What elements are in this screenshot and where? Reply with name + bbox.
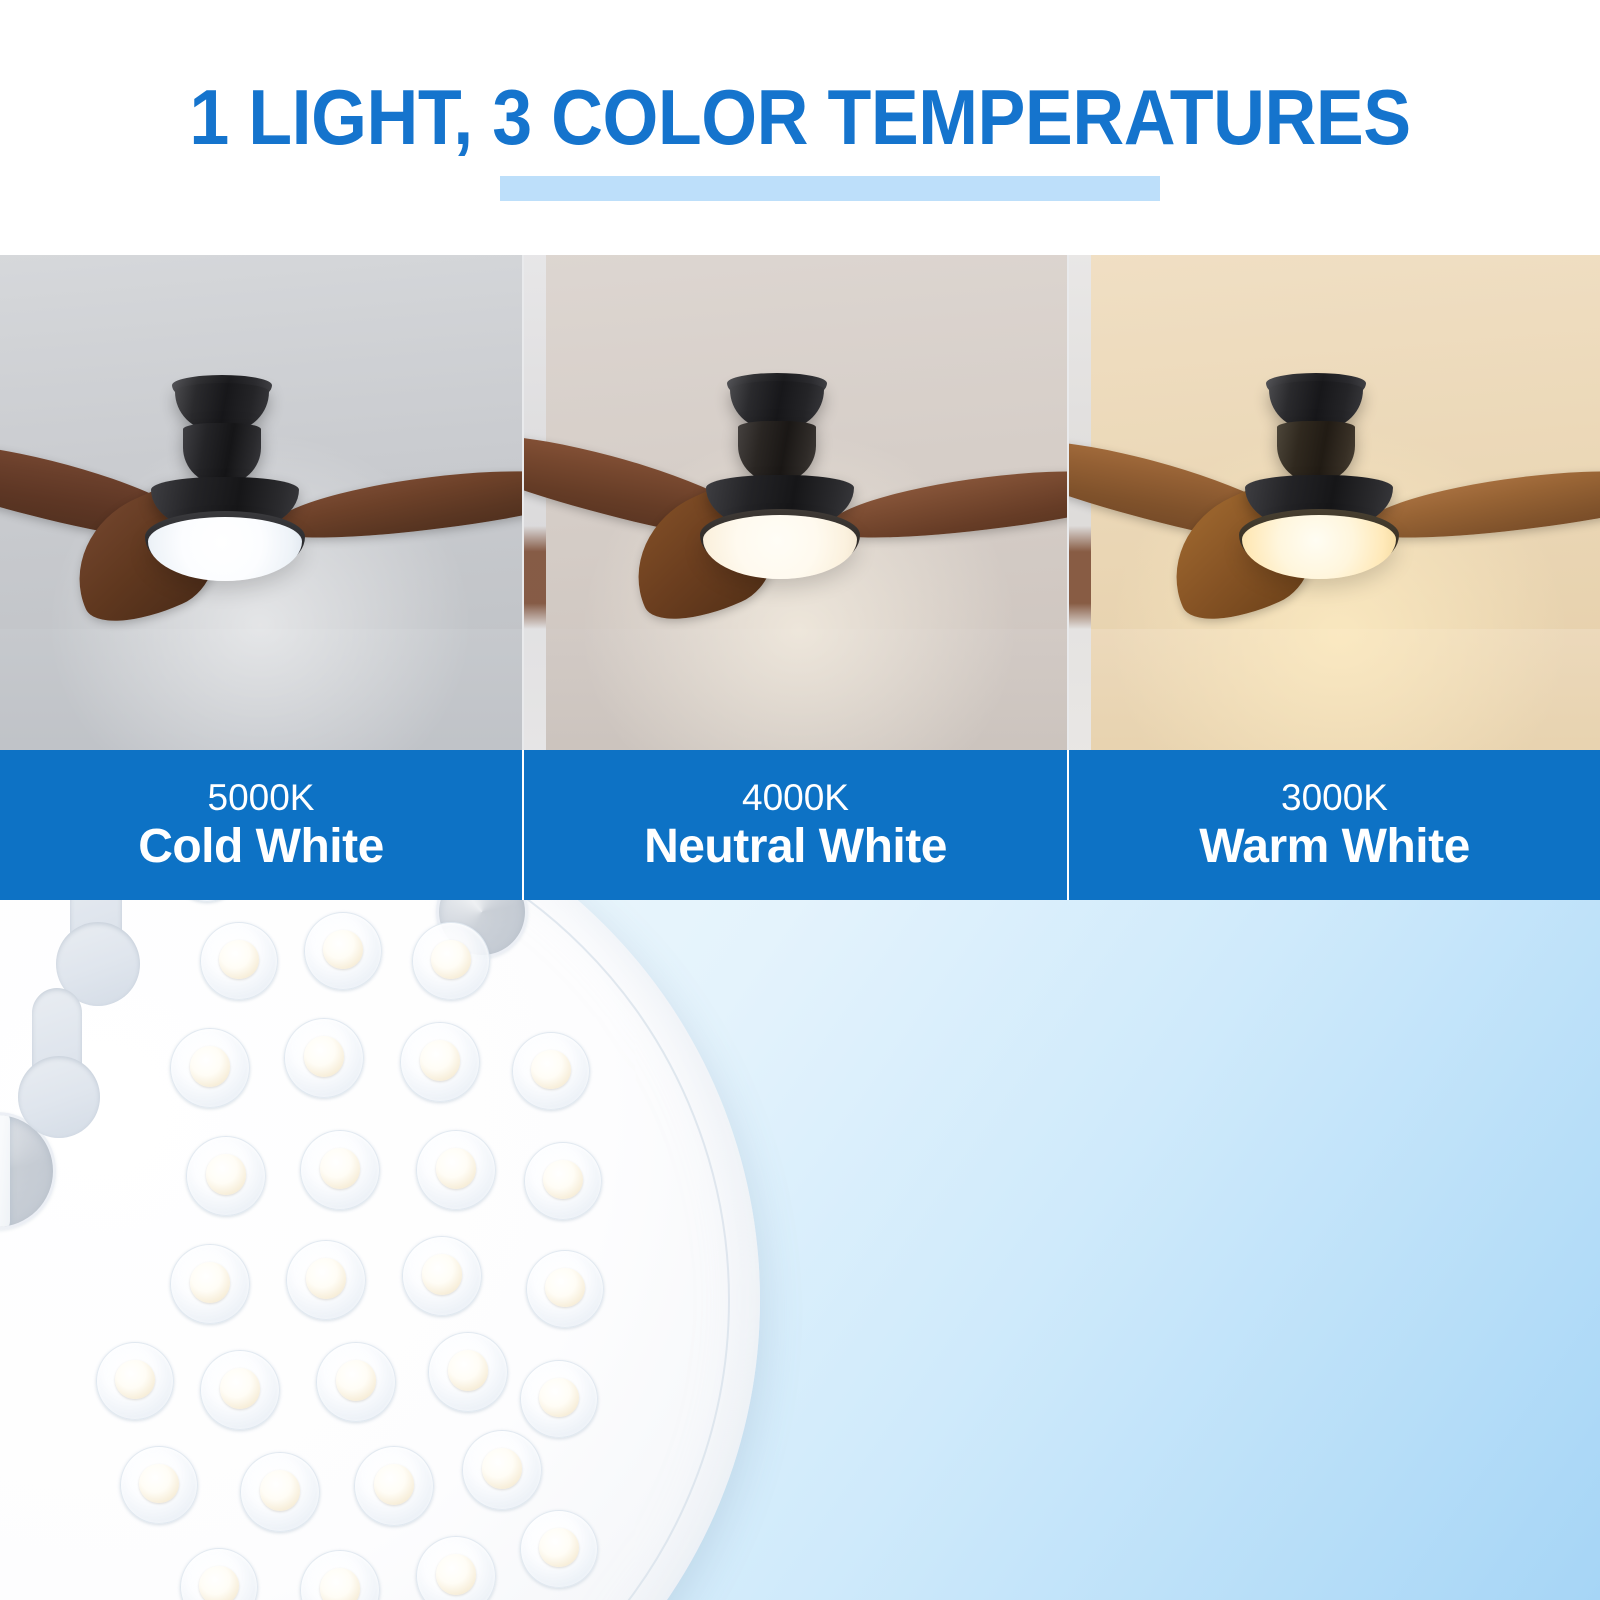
led-lens — [170, 1244, 250, 1324]
color-name-warm-white: Warm White — [1199, 823, 1470, 871]
led-lens — [240, 1452, 320, 1532]
led-module-image — [0, 900, 760, 1600]
led-lens — [512, 1032, 590, 1110]
label-cell-cold-white: 5000K Cold White — [0, 750, 522, 900]
kelvin-value-warm-white: 3000K — [1281, 779, 1388, 816]
led-lens — [520, 1360, 598, 1438]
led-lens — [400, 1022, 480, 1102]
led-lens — [300, 1130, 380, 1210]
led-lens — [416, 1130, 496, 1210]
led-lens — [286, 1240, 366, 1320]
led-lens — [462, 1430, 542, 1510]
how-to-section: 3CCT Dimmable 3000K 4000K 5000K HOW TO S… — [0, 900, 1600, 1600]
color-name-neutral-white: Neutral White — [644, 823, 947, 871]
led-lens — [96, 1342, 174, 1420]
mount-hole-tab — [0, 1112, 10, 1230]
kelvin-value-neutral-white: 4000K — [742, 779, 849, 816]
led-lens — [186, 1136, 266, 1216]
color-name-cold-white: Cold White — [138, 823, 384, 871]
page-title: 1 LIGHT, 3 COLOR TEMPERATURES — [64, 72, 1536, 163]
led-lens — [284, 1018, 364, 1098]
kelvin-value-cold-white: 5000K — [208, 779, 315, 816]
title-underline-bar — [500, 176, 1160, 201]
wire-slot-lower-head — [18, 1056, 100, 1138]
led-lens — [120, 1446, 198, 1524]
header-section: 1 LIGHT, 3 COLOR TEMPERATURES — [0, 0, 1600, 255]
led-lens — [354, 1446, 434, 1526]
led-lens — [520, 1510, 598, 1588]
led-lens — [412, 922, 490, 1000]
label-cell-warm-white: 3000K Warm White — [1067, 750, 1600, 900]
led-lens — [200, 922, 278, 1000]
label-cell-neutral-white: 4000K Neutral White — [522, 750, 1067, 900]
led-lens — [402, 1236, 482, 1316]
led-lens — [304, 912, 382, 990]
led-lens — [428, 1332, 508, 1412]
led-lens — [316, 1342, 396, 1422]
led-lens — [170, 1028, 250, 1108]
led-lens — [200, 1350, 280, 1430]
led-lens — [524, 1142, 602, 1220]
led-lens — [526, 1250, 604, 1328]
